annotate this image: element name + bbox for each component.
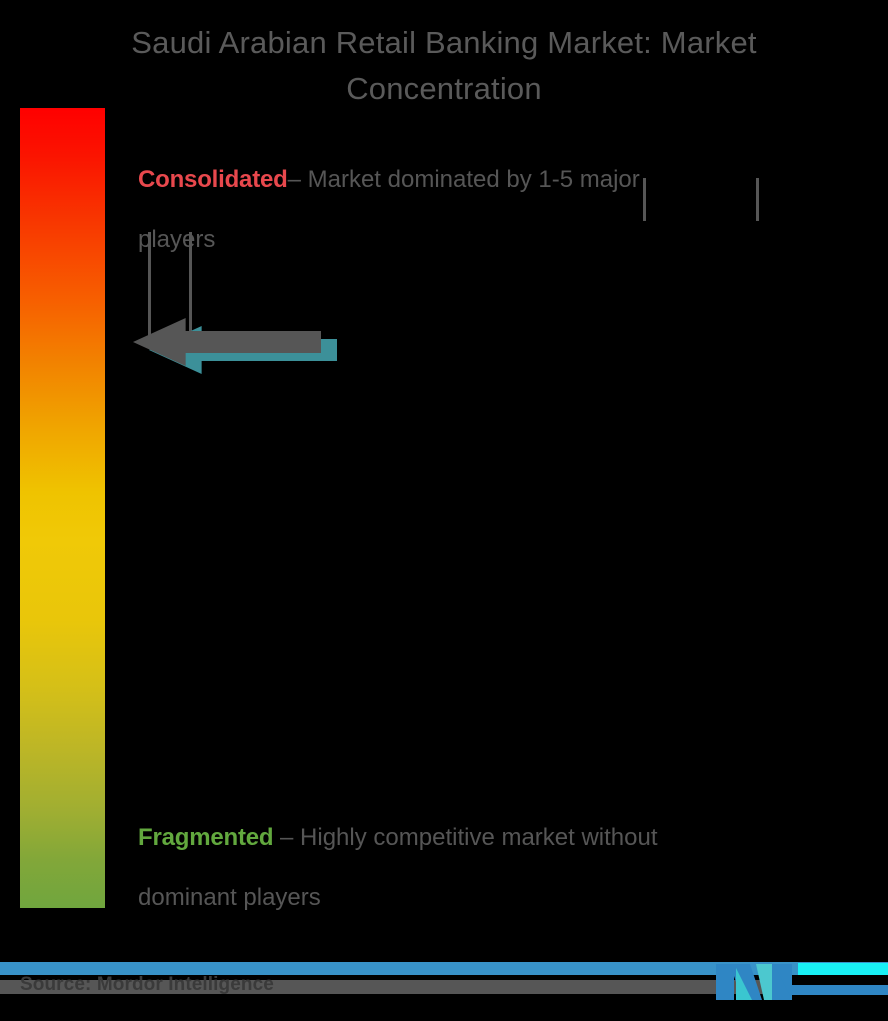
mordor-intelligence-logo-icon [716, 958, 808, 1006]
legend-fragmented: Fragmented – Highly competitive market w… [138, 808, 858, 928]
legend-consolidated: Consolidated– Market dominated by 1-5 ma… [138, 150, 838, 270]
descender-artifact-major-j [756, 178, 759, 221]
legend-fragmented-keyword: Fragmented [138, 824, 273, 851]
concentration-gradient-scale [20, 108, 105, 908]
legend-consolidated-description-2: players [138, 210, 838, 270]
concentration-arrow [133, 318, 333, 374]
legend-consolidated-line1: Consolidated– Market dominated by 1-5 ma… [138, 150, 838, 210]
legend-fragmented-description-2: dominant players [138, 868, 858, 928]
source-attribution: Source: Mordor Intelligence [20, 974, 274, 996]
legend-consolidated-description-1: – Market dominated by 1-5 major [288, 166, 640, 193]
logo-accent-bar-cyan [798, 963, 888, 975]
legend-fragmented-line1: Fragmented – Highly competitive market w… [138, 808, 858, 868]
page-title: Saudi Arabian Retail Banking Market: Mar… [44, 20, 844, 112]
legend-consolidated-keyword: Consolidated [138, 166, 288, 193]
legend-fragmented-description-1: – Highly competitive market without [273, 824, 657, 851]
logo-accent-bar-blue [790, 985, 888, 995]
descender-artifact-by-y [643, 178, 646, 221]
